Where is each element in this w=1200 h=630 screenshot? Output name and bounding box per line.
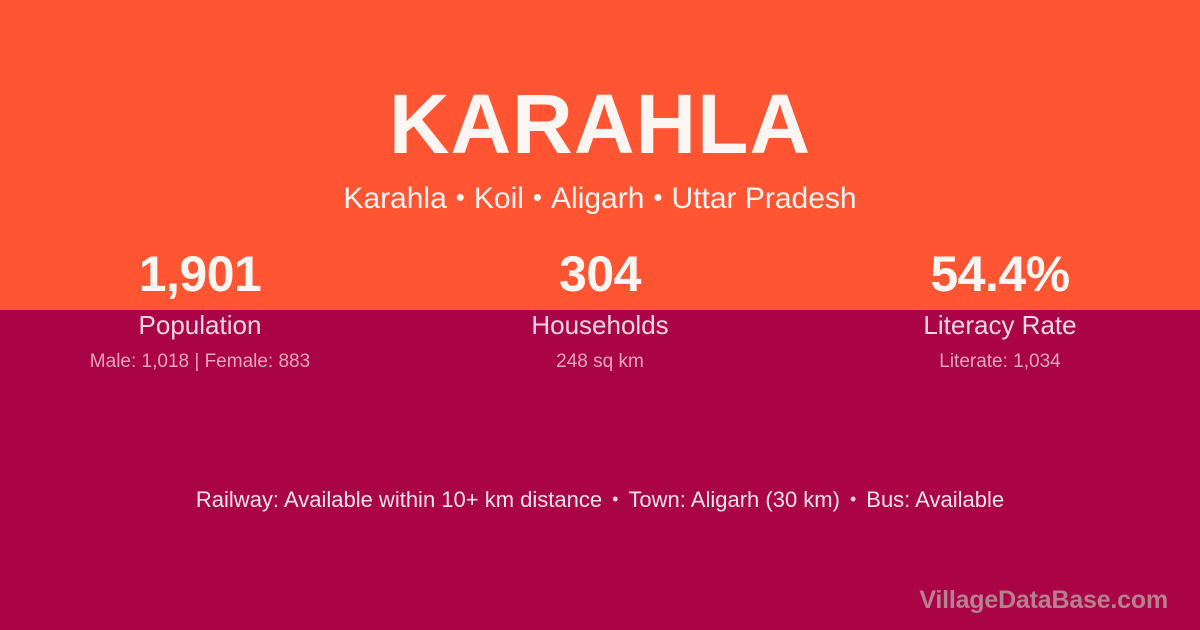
stat-population: 1,901 Population Male: 1,018 | Female: 8…: [0, 242, 400, 376]
site-watermark: VillageDataBase.com: [919, 584, 1168, 616]
stat-value: 304: [400, 242, 800, 306]
stat-value: 54.4%: [800, 242, 1200, 306]
facility-bus: Bus: Available: [866, 487, 1004, 512]
bullet-separator-icon: •: [644, 182, 671, 212]
bullet-separator-icon: •: [447, 182, 474, 212]
stats-row: 1,901 Population Male: 1,018 | Female: 8…: [0, 242, 1200, 376]
facility-railway: Railway: Available within 10+ km distanc…: [196, 487, 602, 512]
stat-detail: 248 sq km: [400, 348, 800, 376]
breadcrumb-item-block: Koil: [474, 182, 524, 215]
card-header: KARAHLA Karahla•Koil•Aligarh•Uttar Prade…: [0, 0, 1200, 218]
facilities-line: Railway: Available within 10+ km distanc…: [0, 482, 1200, 517]
stat-households: 304 Households 248 sq km: [400, 242, 800, 376]
stat-label: Households: [400, 308, 800, 342]
breadcrumb-item-state: Uttar Pradesh: [672, 182, 857, 215]
stat-detail: Male: 1,018 | Female: 883: [0, 348, 400, 376]
village-info-card: KARAHLA Karahla•Koil•Aligarh•Uttar Prade…: [0, 0, 1200, 630]
bullet-separator-icon: •: [840, 489, 866, 509]
stat-label: Literacy Rate: [800, 308, 1200, 342]
stat-label: Population: [0, 308, 400, 342]
stat-detail: Literate: 1,034: [800, 348, 1200, 376]
page-title: KARAHLA: [0, 0, 1200, 170]
stat-literacy-rate: 54.4% Literacy Rate Literate: 1,034: [800, 242, 1200, 376]
bullet-separator-icon: •: [524, 182, 551, 212]
breadcrumb-item-district: Aligarh: [551, 182, 644, 215]
bullet-separator-icon: •: [602, 489, 628, 509]
stat-value: 1,901: [0, 242, 400, 306]
breadcrumb-item-village: Karahla: [343, 182, 446, 215]
breadcrumb: Karahla•Koil•Aligarh•Uttar Pradesh: [0, 170, 1200, 218]
facility-town: Town: Aligarh (30 km): [628, 487, 840, 512]
